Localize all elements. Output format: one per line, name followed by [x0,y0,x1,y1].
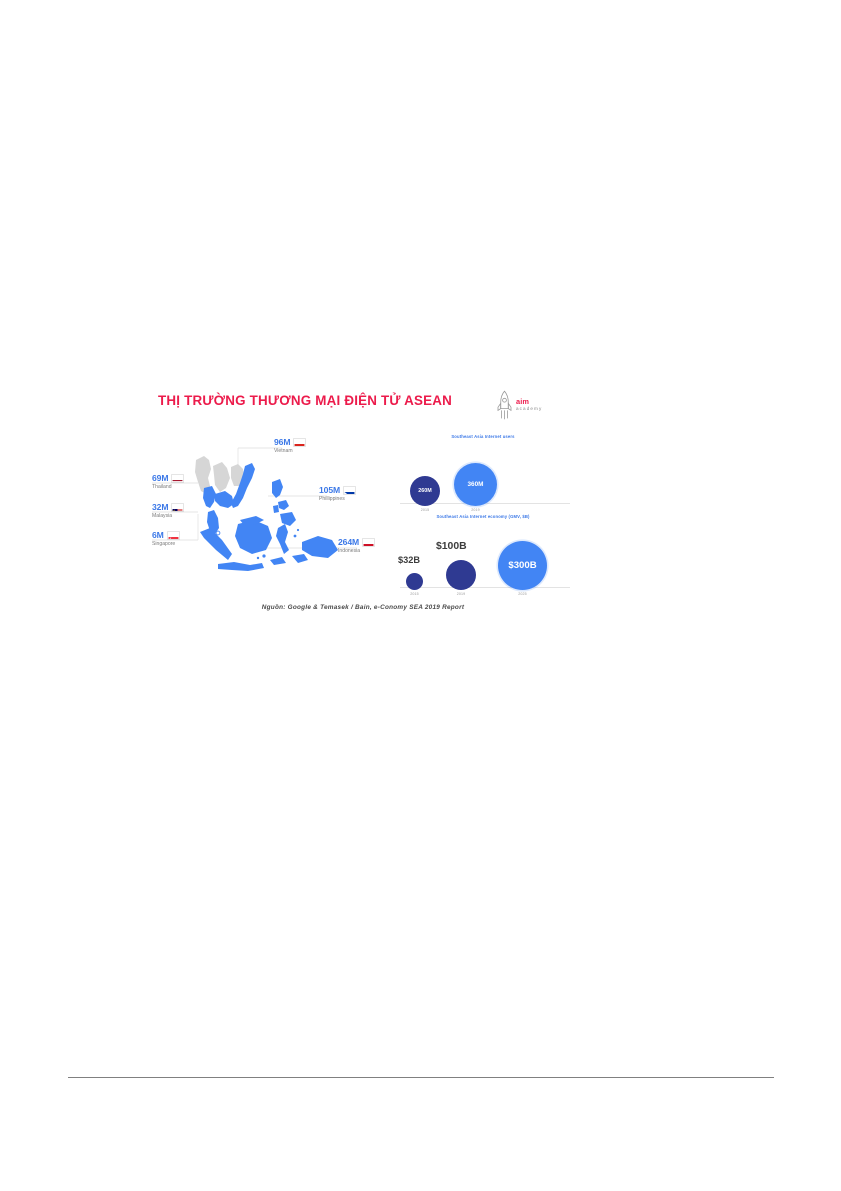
bubble-year-label: 2015 [421,508,429,512]
bubble-value: 260M [410,476,440,506]
country-value: 96M [274,438,290,447]
document-page: THỊ TRƯỜNG THƯƠNG MẠI ĐIỆN TỬ ASEAN aim … [0,0,841,1191]
bubble-value: $32B [398,555,420,565]
country-name: Phillippines [319,497,356,502]
bubble-year-label: 2019 [471,508,479,512]
country-name: Indonesia [338,549,375,554]
country-label-malaysia: 32M [152,503,184,519]
flag-singapore-icon [167,531,180,540]
bubble-group: 2019 [446,560,476,597]
footer-tick-mark [769,1077,774,1078]
country-name: Thailand [152,485,184,490]
country-value: 32M [152,503,168,512]
country-label-thailand: 69M Thailand [152,474,184,490]
sea-map-panel: 96M Vietnam 105M [152,436,384,596]
country-label-vietnam: 96M Vietnam [274,438,306,454]
country-value: 69M [152,474,168,483]
page-title: THỊ TRƯỜNG THƯƠNG MẠI ĐIỆN TỬ ASEAN [158,394,458,409]
chart-title: Southeast Asia Internet economy (GMV, $B… [392,514,574,519]
logo-subtitle: academy [516,407,542,412]
bubble-group: 2015 [406,573,423,597]
flag-malaysia-icon [171,503,184,512]
bubble-marker [446,560,476,590]
flag-vietnam-icon [293,438,306,447]
bubble-year-label: 2019 [457,592,465,596]
bubble-value: $100B [436,541,467,552]
chart-internet-users: Southeast Asia Internet users 260M 2015 … [392,434,574,512]
title-block: THỊ TRƯỜNG THƯƠNG MẠI ĐIỆN TỬ ASEAN [158,394,458,409]
chart-internet-economy: Southeast Asia Internet economy (GMV, $B… [392,514,574,596]
bubble-value: 360M [454,463,497,506]
logo-name: aim [516,398,542,405]
bubble-group: 360M 2019 [454,463,497,513]
map-inactive-countries [195,456,244,494]
bubble-group: 260M 2015 [410,476,440,513]
bubble-group: $300B 2025 [498,541,547,597]
southeast-asia-map [152,436,384,596]
chart-title: Southeast Asia Internet users [392,434,574,439]
country-name: Vietnam [274,449,306,454]
bubble-year-label: 2015 [410,592,418,596]
bubble-marker [406,573,423,590]
bubble-year-label: 2025 [518,592,526,596]
country-value: 6M [152,531,164,540]
country-value: 264M [338,538,359,547]
slide-figure: THỊ TRƯỜNG THƯƠNG MẠI ĐIỆN TỬ ASEAN aim … [152,386,574,626]
country-label-indonesia: 264M Indonesia [338,538,375,554]
flag-thailand-icon [171,474,184,483]
country-name: Singapore [152,542,180,547]
flag-philippines-icon [343,486,356,495]
country-label-philippines: 105M Phillippines [319,486,356,502]
bubble-value: $300B [498,541,547,590]
country-value: 105M [319,486,340,495]
flag-indonesia-icon [362,538,375,547]
source-caption: Nguồn: Google & Temasek / Bain, e-Conomy… [152,604,574,611]
logo-wordmark: aim academy [516,398,542,411]
country-label-singapore: 6M Singapore [152,531,180,547]
footer-divider [68,1077,772,1078]
country-name: Malaysia [152,514,184,519]
brand-logo: aim academy [496,388,570,422]
singapore-marker [216,531,220,535]
rocket-icon [496,390,513,420]
